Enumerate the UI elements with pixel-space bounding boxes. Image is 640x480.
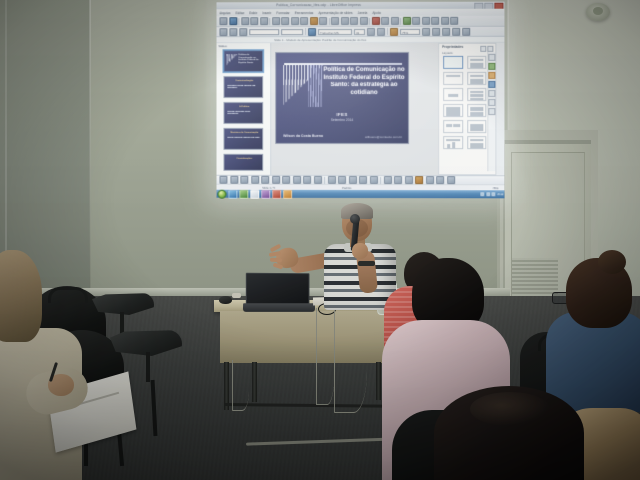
line-style-select[interactable] xyxy=(249,29,279,35)
draw-callouts-icon[interactable] xyxy=(349,176,357,184)
toolbar-separator xyxy=(269,18,270,25)
tray-battery-icon[interactable] xyxy=(491,192,495,196)
cut-icon[interactable] xyxy=(272,17,280,25)
taskbar-pdf-icon[interactable] xyxy=(272,189,281,198)
slide-thumbnail-3-body: ■■■■■■ ■■■■■■■■ ■■■■ ■■■■■■■■■ xyxy=(227,111,260,116)
draw-points-icon[interactable] xyxy=(447,176,455,184)
projected-screen: Politica_Comunicacao_Ifes.odp - LibreOff… xyxy=(217,2,505,199)
draw-zoom-icon[interactable] xyxy=(230,176,238,184)
font-name-select[interactable]: Trebuchet MS xyxy=(318,29,352,35)
layout-title-chart[interactable] xyxy=(443,136,463,149)
menu-ferramentas[interactable]: Ferramentas xyxy=(295,11,314,15)
draw-stars-icon[interactable] xyxy=(359,176,367,184)
sidebar-animation-icon[interactable] xyxy=(488,72,495,79)
layout-blank[interactable] xyxy=(443,56,463,69)
sidebar-properties-icon[interactable] xyxy=(488,54,495,61)
menu-formatar[interactable]: Formatar xyxy=(276,11,289,15)
layouts-section-label: Layouts xyxy=(442,51,453,55)
slide-organization: IFES xyxy=(276,112,408,117)
power-cable xyxy=(316,308,335,405)
slide-thumbnail-5[interactable]: Considerações xyxy=(223,154,263,171)
slide-fan-graphic-secondary xyxy=(308,65,322,107)
tray-network-icon[interactable] xyxy=(480,192,484,196)
font-size-select[interactable]: 32 xyxy=(354,28,365,34)
save-icon[interactable] xyxy=(241,17,249,25)
slide-title: Política de Comunicação no Instituto Fed… xyxy=(322,66,406,96)
audience-hair xyxy=(0,250,42,342)
draw-3d-objects-icon[interactable] xyxy=(370,176,378,184)
toolbar-separator xyxy=(238,18,239,25)
sidebar-master-slides-icon[interactable] xyxy=(488,81,495,88)
menu-inserir[interactable]: Inserir xyxy=(262,11,271,15)
draw-connector-icon[interactable] xyxy=(293,176,301,184)
italic-icon[interactable] xyxy=(377,27,385,35)
task-pane-menu-icon[interactable] xyxy=(480,45,486,51)
menu-apresentacao[interactable]: Apresentação de slides xyxy=(318,11,352,15)
draw-align-icon[interactable] xyxy=(394,176,402,184)
grid-icon[interactable] xyxy=(391,17,399,25)
table-leg xyxy=(376,362,381,400)
slide-thumbnail-1-title: Política de Comunicação no Instituto Fed… xyxy=(238,54,260,64)
toolbar-separator xyxy=(329,18,330,25)
slide-thumbnail-3[interactable]: A Política ■■■■■■ ■■■■■■■■ ■■■■ ■■■■■■■■… xyxy=(223,102,263,124)
slide-thumbnail-5-title: Considerações xyxy=(228,158,260,161)
thumbnail-fan-graphic xyxy=(226,54,237,65)
taskbar-media-icon[interactable] xyxy=(250,189,259,198)
hair-highlight xyxy=(470,392,550,426)
lecture-room-photo: Politica_Comunicacao_Ifes.odp - LibreOff… xyxy=(0,0,640,480)
taskbar-browser-icon[interactable] xyxy=(228,189,237,198)
sidebar-gallery-icon[interactable] xyxy=(488,99,495,106)
bold-icon[interactable] xyxy=(367,27,375,35)
print-icon[interactable] xyxy=(260,17,268,25)
slide-thumbnail-2-body: ■■■■■■■■ ■■■■■ ■■■■■■ ■■■ ■■■■■■■■ xyxy=(227,85,260,90)
current-slide[interactable]: Política de Comunicação no Instituto Fed… xyxy=(275,52,409,144)
presenter-wristwatch xyxy=(358,261,375,266)
draw-basic-shapes-icon[interactable] xyxy=(303,176,311,184)
draw-curve-icon[interactable] xyxy=(282,176,290,184)
new-slide-icon[interactable] xyxy=(403,17,411,25)
character-icon[interactable] xyxy=(308,28,316,36)
start-button[interactable] xyxy=(218,189,227,198)
slide-thumbnail-2-title: Contextualização xyxy=(228,80,260,83)
draw-image-icon[interactable] xyxy=(426,176,434,184)
clone-formatting-icon[interactable] xyxy=(300,17,308,25)
toolbar-separator xyxy=(400,17,401,24)
toolbar-separator xyxy=(305,28,306,35)
sidebar-styles-icon[interactable] xyxy=(488,90,495,97)
draw-flowchart-icon[interactable] xyxy=(338,176,346,184)
slide-thumbnail-2[interactable]: Contextualização ■■■■■■■■ ■■■■■ ■■■■■■ ■… xyxy=(223,76,263,98)
slide-thumbnail-4[interactable]: Diretrizes de Comunicação ■■■■■ ■■■■■■■ … xyxy=(223,128,263,150)
paste-icon[interactable] xyxy=(291,17,299,25)
task-pane-title: Propriedades xyxy=(442,45,463,49)
layout-title-table[interactable] xyxy=(467,136,487,149)
ceiling-fixture-core xyxy=(593,7,603,15)
sidebar-slide-transition-icon[interactable] xyxy=(488,63,495,70)
font-color-icon[interactable] xyxy=(390,27,398,35)
slide-email: wilbueno@comtexto.com.br xyxy=(365,135,402,139)
slide-edit-area[interactable]: Política de Comunicação no Instituto Fed… xyxy=(271,43,438,175)
bullets-icon[interactable] xyxy=(452,27,460,35)
tablet-arm-post xyxy=(146,352,150,382)
align-right-icon[interactable] xyxy=(442,27,450,35)
computer-mouse xyxy=(219,296,232,304)
task-pane-sidebar-strip[interactable] xyxy=(487,52,495,171)
toolbar-separator xyxy=(324,176,325,183)
taskbar-mail-icon[interactable] xyxy=(261,189,270,198)
layouts-grid[interactable] xyxy=(443,56,486,149)
standard-toolbar[interactable] xyxy=(217,16,505,28)
display-views-icon[interactable] xyxy=(431,17,439,25)
layout-title-four-content[interactable] xyxy=(467,104,487,117)
numbering-icon[interactable] xyxy=(462,27,470,35)
line-color-icon[interactable] xyxy=(229,28,237,36)
draw-filter-icon[interactable] xyxy=(436,176,444,184)
table-icon[interactable] xyxy=(331,17,339,25)
zoom-icon[interactable] xyxy=(441,17,449,25)
power-cable xyxy=(334,308,367,413)
task-pane-controls[interactable] xyxy=(480,45,494,51)
layout-centered-text[interactable] xyxy=(443,88,463,101)
toolbar-separator xyxy=(387,28,388,35)
slide-top-rule xyxy=(284,63,402,65)
zoom-select[interactable]: 75% xyxy=(400,28,420,34)
formatting-toolbar[interactable]: Trebuchet MS 32 75% xyxy=(217,27,505,37)
draw-rotate-icon[interactable] xyxy=(384,176,392,184)
start-slideshow-icon[interactable] xyxy=(372,17,380,25)
draw-text-icon[interactable] xyxy=(272,176,280,184)
select-icon[interactable] xyxy=(219,28,227,36)
menu-editar[interactable]: Editar xyxy=(236,11,245,15)
fill-color-icon[interactable] xyxy=(239,28,247,36)
audience-member-taking-notes xyxy=(0,250,106,480)
tray-volume-icon[interactable] xyxy=(486,192,490,196)
spelling-icon[interactable] xyxy=(381,17,389,25)
layout-content-only[interactable] xyxy=(467,120,487,133)
slides-panel-title: Slides xyxy=(218,43,226,49)
table-object xyxy=(232,293,241,298)
layout-title-only[interactable] xyxy=(443,72,463,85)
taskbar-clock[interactable]: 15:42 xyxy=(497,193,504,196)
menu-janela[interactable]: Janela xyxy=(358,10,368,14)
slides-panel[interactable]: Slides Política de Comunicação no Instit… xyxy=(217,43,272,175)
taskbar-impress-icon[interactable] xyxy=(283,189,292,198)
menu-arquivo[interactable]: Arquivo xyxy=(219,11,230,15)
draw-line-icon[interactable] xyxy=(240,176,248,184)
line-width-select[interactable] xyxy=(281,29,303,35)
chart-icon[interactable] xyxy=(350,17,358,25)
slide-thumbnail-4-body: ■■■■■ ■■■■■■■ ■■■■■■ ■■■ ■■■■ xyxy=(227,137,260,139)
copy-icon[interactable] xyxy=(281,17,289,25)
layout-title-six-content[interactable] xyxy=(443,120,463,133)
layout-two-content-and-content[interactable] xyxy=(443,104,463,117)
sidebar-navigator-icon[interactable] xyxy=(488,108,495,115)
power-cable xyxy=(232,360,249,411)
properties-task-pane[interactable]: Propriedades Layouts xyxy=(438,43,496,175)
microphone-head-icon xyxy=(350,214,360,224)
slide-thumbnail-1[interactable]: Política de Comunicação no Instituto Fed… xyxy=(223,50,263,72)
toolbar-separator xyxy=(380,177,381,184)
taskbar-explorer-icon[interactable] xyxy=(239,189,248,198)
draw-select-icon[interactable] xyxy=(219,176,227,184)
presenter-finger xyxy=(270,258,282,263)
presenter-right-hand xyxy=(352,243,368,259)
helplines-icon[interactable] xyxy=(450,17,458,25)
layout-title-content[interactable] xyxy=(467,56,487,69)
menu-exibir[interactable]: Exibir xyxy=(249,11,257,15)
draw-fontwork-icon[interactable] xyxy=(415,176,423,184)
export-pdf-icon[interactable] xyxy=(250,17,258,25)
slide-thumbnail-3-title: A Política xyxy=(228,106,260,109)
open-icon[interactable] xyxy=(229,17,237,25)
draw-rectangle-icon[interactable] xyxy=(251,176,259,184)
table-leg xyxy=(252,362,257,402)
draw-block-arrows-icon[interactable] xyxy=(328,176,336,184)
draw-symbol-shapes-icon[interactable] xyxy=(314,176,322,184)
align-center-icon[interactable] xyxy=(432,27,440,35)
slide-thumbnail-4-title: Diretrizes de Comunicação xyxy=(228,132,260,135)
slide-date: Setembro 2014 xyxy=(276,118,408,122)
master-slide-icon[interactable] xyxy=(422,17,430,25)
toolbar-separator xyxy=(369,17,370,24)
audience-hair-bun xyxy=(598,250,626,274)
draw-arrange-icon[interactable] xyxy=(405,176,413,184)
task-pane-close-icon[interactable] xyxy=(487,45,493,51)
image-icon[interactable] xyxy=(341,17,349,25)
slide-author: Wilson da Costa Bueno xyxy=(283,134,323,138)
slide-layout-icon[interactable] xyxy=(412,17,420,25)
redo-icon[interactable] xyxy=(319,17,327,25)
textbox-icon[interactable] xyxy=(360,17,368,25)
draw-ellipse-icon[interactable] xyxy=(261,176,269,184)
new-icon[interactable] xyxy=(219,17,227,25)
layout-title-two-content[interactable] xyxy=(467,72,487,85)
menu-ajuda[interactable]: Ajuda xyxy=(372,10,380,14)
layout-title-content-over-content[interactable] xyxy=(467,88,487,101)
os-taskbar[interactable]: 15:42 xyxy=(217,190,505,199)
system-tray[interactable]: 15:42 xyxy=(480,190,503,198)
undo-icon[interactable] xyxy=(310,17,318,25)
align-left-icon[interactable] xyxy=(422,27,430,35)
